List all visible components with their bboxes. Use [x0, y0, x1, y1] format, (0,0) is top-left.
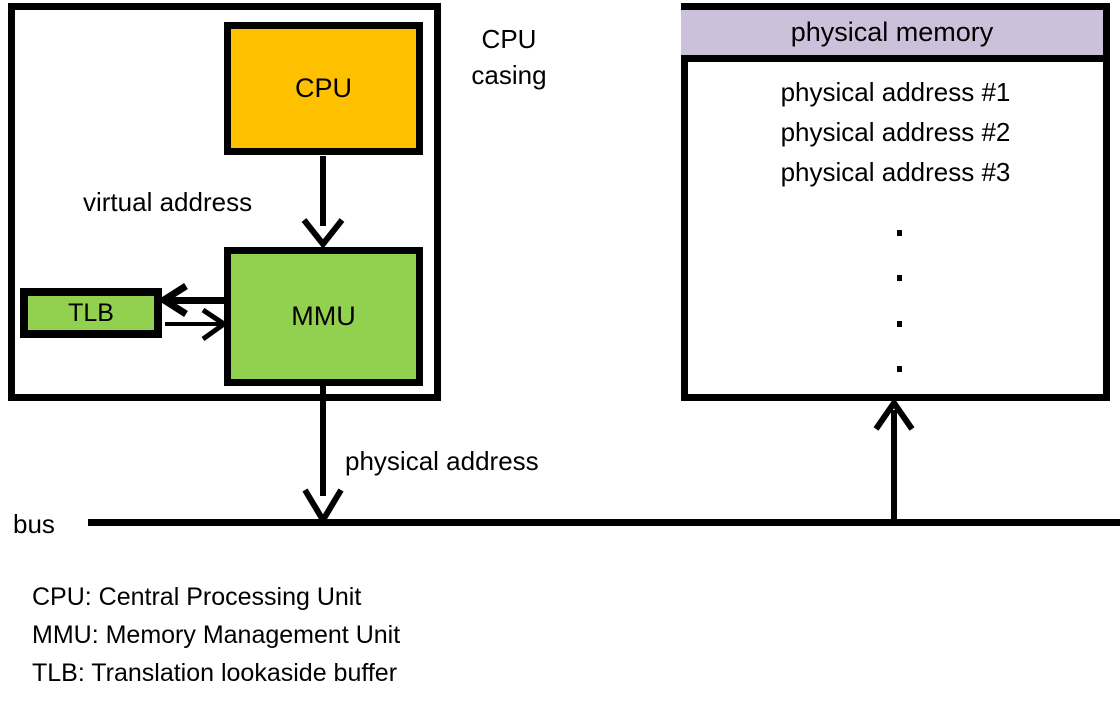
mmu-to-tlb-arrowhead — [156, 283, 192, 319]
bus-line — [88, 519, 1120, 526]
memory-ellipsis-dot — [897, 275, 902, 281]
memory-row: physical address #1 — [688, 72, 1103, 112]
memory-ellipsis-dot — [897, 321, 902, 327]
memory-row: physical address #2 — [688, 112, 1103, 152]
cpu-to-mmu-arrowhead — [300, 214, 346, 250]
mmu-block-label: MMU — [291, 303, 355, 330]
memory-row: physical address #3 — [688, 152, 1103, 192]
physical-address-label: physical address — [345, 443, 539, 479]
physical-memory-row-list: physical address #1 physical address #2 … — [688, 72, 1103, 192]
cpu-block[interactable]: CPU — [224, 22, 423, 155]
physical-memory-header: physical memory — [681, 10, 1103, 62]
diagram-canvas: CPU casing CPU virtual address MMU TLB p… — [0, 0, 1120, 701]
tlb-block-label: TLB — [68, 301, 114, 326]
cpu-block-label: CPU — [295, 75, 352, 102]
cpu-casing-label: CPU casing — [459, 21, 559, 93]
mmu-to-bus-line — [320, 386, 326, 496]
tlb-block[interactable]: TLB — [20, 288, 162, 338]
physical-memory-box — [681, 3, 1110, 401]
physical-memory-header-label: physical memory — [791, 19, 994, 46]
bus-label: bus — [13, 506, 55, 542]
memory-ellipsis-dot — [897, 230, 902, 236]
legend-item: TLB: Translation lookaside buffer — [32, 654, 400, 692]
virtual-address-label: virtual address — [83, 184, 252, 220]
cpu-casing-label-line2: casing — [459, 57, 559, 93]
legend-item: CPU: Central Processing Unit — [32, 578, 400, 616]
mmu-block[interactable]: MMU — [224, 247, 423, 386]
cpu-casing-label-line1: CPU — [459, 21, 559, 57]
bus-to-memory-arrowhead — [873, 399, 915, 433]
tlb-to-mmu-arrowhead — [198, 308, 232, 342]
legend-item: MMU: Memory Management Unit — [32, 616, 400, 654]
memory-ellipsis-dot — [897, 366, 902, 372]
legend: CPU: Central Processing Unit MMU: Memory… — [32, 578, 400, 692]
